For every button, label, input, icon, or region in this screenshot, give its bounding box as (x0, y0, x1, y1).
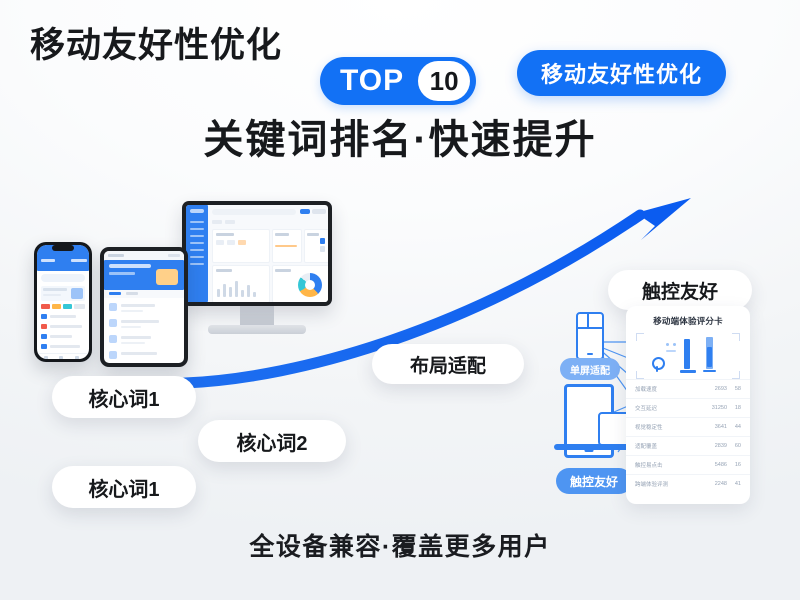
row-name: 视觉稳定性 (635, 423, 705, 431)
score-card-rows: 加载速度 2693 58 交互延迟 31250 18 视觉稳定性 3641 44… (626, 379, 750, 493)
tablet-device (100, 247, 188, 367)
row-value-2: 60 (727, 443, 741, 449)
table-row: 视觉稳定性 3641 44 (626, 417, 750, 436)
keyword-pill-2[interactable]: 核心词2 (198, 420, 346, 462)
keyword-pill-1[interactable]: 核心词1 (52, 376, 196, 418)
score-card-chart (636, 333, 740, 379)
monitor-stand-base (208, 325, 306, 334)
tablet-screen (104, 251, 184, 363)
device-mockup-group (22, 195, 352, 375)
header-tag-badge: 移动友好性优化 (517, 50, 726, 96)
row-name: 交互延迟 (635, 404, 705, 412)
mobile-experience-diagram: 单屏适配 触控友好 移动端体验评分卡 (548, 300, 788, 515)
row-value-1: 5486 (705, 462, 727, 468)
row-name: 加载速度 (635, 385, 705, 393)
row-value-1: 2839 (705, 443, 727, 449)
rank-badge-number: 10 (418, 61, 470, 101)
row-value-2: 41 (727, 481, 741, 487)
desktop-monitor (182, 201, 332, 306)
diagram-laptop-base (554, 444, 632, 450)
layout-adapt-pill[interactable]: 布局适配 (372, 344, 524, 384)
table-row: 跨端体验评测 2248 41 (626, 474, 750, 493)
table-row: 适配覆盖 2839 60 (626, 436, 750, 455)
table-row: 触控易点击 5486 16 (626, 455, 750, 474)
row-name: 适配覆盖 (635, 442, 705, 450)
row-value-1: 3641 (705, 424, 727, 430)
rank-badge-word: TOP (340, 66, 418, 96)
row-name: 触控易点击 (635, 461, 705, 469)
phone-device (34, 242, 92, 362)
score-card-title: 移动端体验评分卡 (626, 315, 750, 327)
diagram-badge-touch: 触控友好 (556, 468, 632, 494)
row-name: 跨端体验评测 (635, 480, 705, 488)
page-subtitle: 关键词排名·快速提升 (0, 118, 800, 162)
row-value-2: 18 (727, 405, 741, 411)
row-value-2: 16 (727, 462, 741, 468)
row-value-2: 58 (727, 386, 741, 392)
score-card: 移动端体验评分卡 加载速度 2693 58 (626, 306, 750, 504)
table-row: 交互延迟 31250 18 (626, 398, 750, 417)
table-row: 加载速度 2693 58 (626, 379, 750, 398)
row-value-1: 2248 (705, 481, 727, 487)
phone-screen (37, 245, 89, 359)
row-value-1: 31250 (705, 405, 727, 411)
keyword-pill-3[interactable]: 核心词1 (52, 466, 196, 508)
diagram-phone-small (576, 312, 604, 360)
poster-canvas: 移动友好性优化 TOP 10 移动友好性优化 关键词排名·快速提升 (0, 0, 800, 600)
phone-notch (52, 245, 74, 251)
footer-caption: 全设备兼容·覆盖更多用户 (0, 527, 800, 563)
desktop-screen (186, 205, 328, 302)
diagram-badge-screen: 单屏适配 (560, 358, 620, 380)
row-value-2: 44 (727, 424, 741, 430)
rank-badge: TOP 10 (320, 57, 476, 105)
row-value-1: 2693 (705, 386, 727, 392)
page-title: 移动友好性优化 (30, 28, 282, 63)
